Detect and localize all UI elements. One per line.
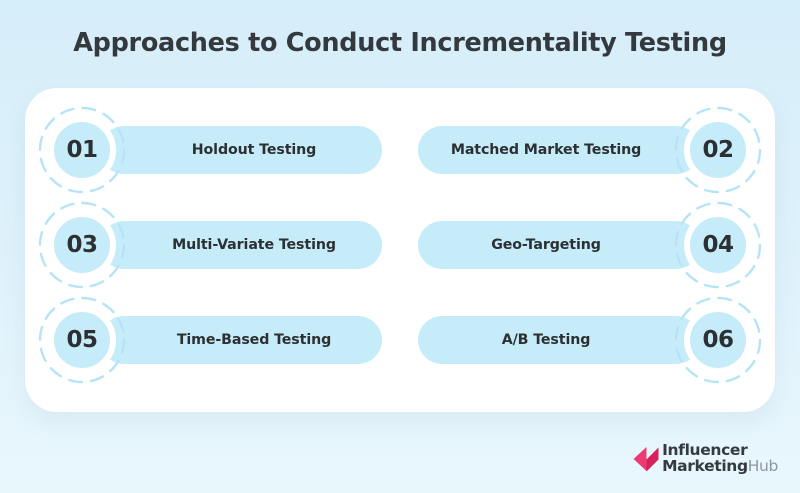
approach-item-05[interactable]: Time-Based Testing 05 <box>25 292 400 388</box>
approach-pill-06[interactable]: A/B Testing <box>418 316 700 364</box>
approach-number-05: 05 <box>66 329 97 352</box>
approach-item-06[interactable]: A/B Testing 06 <box>400 292 775 388</box>
approach-label-05: Time-Based Testing <box>177 332 331 348</box>
approach-badge-04: 04 <box>674 201 762 289</box>
approach-pill-04[interactable]: Geo-Targeting <box>418 221 700 269</box>
approach-number-01: 01 <box>66 139 97 162</box>
approach-row: Holdout Testing 01 Matched Market Testin… <box>25 102 775 198</box>
approach-row: Multi-Variate Testing 03 Geo-Targeting <box>25 197 775 293</box>
approach-label-06: A/B Testing <box>502 332 591 348</box>
approach-number-circle-06: 06 <box>684 306 752 374</box>
approach-number-04: 04 <box>702 234 733 257</box>
approach-pill-03[interactable]: Multi-Variate Testing <box>100 221 382 269</box>
approach-label-02: Matched Market Testing <box>451 142 641 158</box>
approach-number-circle-01: 01 <box>48 116 116 184</box>
approach-badge-01: 01 <box>38 106 126 194</box>
approach-label-03: Multi-Variate Testing <box>172 237 336 253</box>
pink-arrow-icon <box>633 444 659 474</box>
approach-number-circle-05: 05 <box>48 306 116 374</box>
infographic-canvas: Approaches to Conduct Incrementality Tes… <box>0 0 800 493</box>
approach-number-06: 06 <box>702 329 733 352</box>
brand-logo-line2: MarketingHub <box>662 459 778 475</box>
approach-badge-06: 06 <box>674 296 762 384</box>
approach-row: Time-Based Testing 05 A/B Testing <box>25 292 775 388</box>
brand-logo[interactable]: Influencer MarketingHub <box>633 439 778 479</box>
approach-badge-03: 03 <box>38 201 126 289</box>
approach-item-01[interactable]: Holdout Testing 01 <box>25 102 400 198</box>
approach-badge-05: 05 <box>38 296 126 384</box>
approach-pill-01[interactable]: Holdout Testing <box>100 126 382 174</box>
brand-logo-hub: Hub <box>748 457 778 475</box>
approach-number-03: 03 <box>66 234 97 257</box>
approach-badge-02: 02 <box>674 106 762 194</box>
approach-label-01: Holdout Testing <box>192 142 316 158</box>
brand-logo-text: Influencer MarketingHub <box>662 443 778 475</box>
approach-number-02: 02 <box>702 139 733 162</box>
approach-number-circle-04: 04 <box>684 211 752 279</box>
approach-number-circle-02: 02 <box>684 116 752 184</box>
page-title: Approaches to Conduct Incrementality Tes… <box>0 28 800 58</box>
approach-label-04: Geo-Targeting <box>491 237 601 253</box>
approach-item-03[interactable]: Multi-Variate Testing 03 <box>25 197 400 293</box>
content-card: Holdout Testing 01 Matched Market Testin… <box>25 88 775 412</box>
approach-number-circle-03: 03 <box>48 211 116 279</box>
brand-logo-marketing: Marketing <box>662 457 748 475</box>
approach-pill-02[interactable]: Matched Market Testing <box>418 126 700 174</box>
approach-pill-05[interactable]: Time-Based Testing <box>100 316 382 364</box>
approach-item-02[interactable]: Matched Market Testing 02 <box>400 102 775 198</box>
approach-list: Holdout Testing 01 Matched Market Testin… <box>25 88 775 412</box>
approach-item-04[interactable]: Geo-Targeting 04 <box>400 197 775 293</box>
